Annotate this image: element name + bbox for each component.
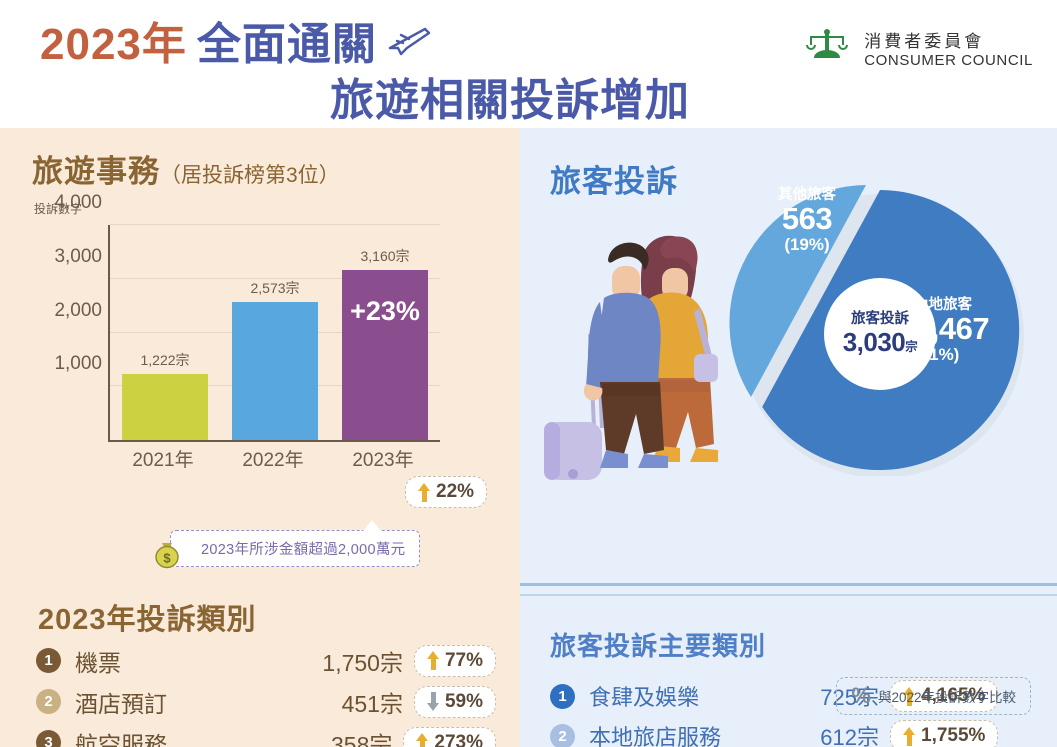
category-change-value: 273% <box>434 732 483 747</box>
donut-chart: 旅客投訴 3,030宗 其他旅客 563 (19%) 內地旅客 2,467 (8… <box>696 146 1036 476</box>
category-name: 機票 <box>75 644 278 678</box>
left-panel: 旅遊事務（居投訴榜第3位） 投訴數字 4,000 3,000 2,000 1,0… <box>0 128 520 747</box>
title-line-1: 2023年全面通關 <box>40 18 800 74</box>
rank-badge: 1 <box>36 648 61 673</box>
bar-2021: 1,222宗 <box>122 374 208 440</box>
y-tick-3000: 3,000 <box>54 246 102 268</box>
amount-callout: $ 2023年所涉金額超過2,000萬元 <box>152 530 420 567</box>
category-change-badge: 77% <box>414 645 496 677</box>
floor-line <box>520 583 1057 586</box>
title-block: 2023年全面通關 旅遊相關投訴增加 <box>40 18 800 128</box>
table-row: 3 航空服務 358宗 273% <box>36 722 496 747</box>
category-change-value: 1,755% <box>921 725 985 747</box>
category-change-badge: 273% <box>403 727 496 747</box>
overall-growth-badge: 22% <box>405 476 487 508</box>
rank-badge: 3 <box>36 730 61 747</box>
categories-heading: 2023年投訴類別 <box>38 596 257 638</box>
bar-annotation-2023: +23% <box>350 296 420 327</box>
category-value: 612宗 <box>769 720 879 747</box>
table-row: 2 本地旅店服務 612宗 1,755% <box>550 716 1050 747</box>
footnote: % 與2022年投訴數字比較 <box>836 677 1031 715</box>
bar-column-2021: 1,222宗 <box>122 225 208 440</box>
money-bag-icon: $ <box>150 536 184 575</box>
amount-callout-box: 2023年所涉金額超過2,000萬元 <box>170 530 420 567</box>
donut-center-value-wrap: 3,030宗 <box>843 328 918 357</box>
category-name: 酒店預訂 <box>75 685 278 719</box>
slice-label-other: 其他旅客 563 (19%) <box>778 188 836 254</box>
rank-badge: 1 <box>550 684 575 709</box>
svg-text:$: $ <box>163 551 171 566</box>
x-label-2022: 2022年 <box>230 445 316 472</box>
donut-center-label: 旅客投訴 <box>851 312 909 328</box>
travel-heading-main: 旅遊事務 <box>32 154 160 189</box>
y-tick-4000: 4,000 <box>54 192 102 214</box>
slice-other-value: 563 <box>778 203 836 236</box>
header: 2023年全面通關 旅遊相關投訴增加 <box>0 0 1057 128</box>
slice-main-value: 2,467 <box>914 313 989 346</box>
slice-main-percent: (81%) <box>914 346 989 364</box>
category-change-value: 77% <box>445 650 483 672</box>
bar-value-2023: 3,160宗 <box>360 246 409 266</box>
category-name: 本地旅店服務 <box>589 720 769 747</box>
title-highlight: 全面通關 <box>197 20 377 69</box>
title-line-2: 旅遊相關投訴增加 <box>40 74 800 128</box>
arrow-up-icon <box>427 651 440 670</box>
overall-growth-value: 22% <box>436 481 474 503</box>
chart-plot-area: 4,000 3,000 2,000 1,000 1,222宗 2,573宗 <box>108 225 440 442</box>
footnote-text: 與2022年投訴數字比較 <box>878 686 1016 706</box>
logo-english-name: CONSUMER COUNCIL <box>864 52 1033 69</box>
arrow-up-icon <box>418 483 431 502</box>
amount-callout-text: 2023年所涉金額超過2,000萬元 <box>201 542 405 558</box>
passenger-section-heading: 旅客投訴 <box>550 156 678 201</box>
category-change-badge: 59% <box>414 686 496 718</box>
floor-line-secondary <box>520 594 1057 596</box>
category-value: 451宗 <box>278 685 403 719</box>
travellers-with-luggage-illustration <box>530 216 745 484</box>
logo-text: 消費者委員會 CONSUMER COUNCIL <box>864 32 1033 69</box>
arrow-down-icon <box>427 692 440 711</box>
chart-x-labels: 2021年 2022年 2023年 <box>108 445 438 472</box>
travel-section-heading: 旅遊事務（居投訴榜第3位） <box>32 146 340 191</box>
rank-badge: 2 <box>550 724 575 747</box>
title-year: 2023年 <box>40 20 187 69</box>
complaint-categories-list: 1 機票 1,750宗 77% 2 酒店預訂 451宗 59% 3 航空 <box>36 640 496 747</box>
logo-chinese-name: 消費者委員會 <box>864 32 1033 52</box>
y-tick-2000: 2,000 <box>54 300 102 322</box>
infographic-page: 2023年全面通關 旅遊相關投訴增加 <box>0 0 1057 747</box>
bar-2023: 3,160宗 +23% <box>342 270 428 440</box>
travel-heading-sub: （居投訴榜第3位） <box>160 164 340 187</box>
chart-bars: 1,222宗 2,573宗 3,160宗 +23% <box>110 225 440 440</box>
passenger-categories-heading: 旅客投訴主要類別 <box>550 626 766 663</box>
category-name: 食肆及娛樂 <box>589 680 769 712</box>
bar-column-2023: 3,160宗 +23% <box>342 225 428 440</box>
category-name: 航空服務 <box>75 726 272 747</box>
bar-value-2022: 2,573宗 <box>250 278 299 298</box>
slice-label-mainland: 內地旅客 2,467 (81%) <box>914 298 989 364</box>
table-row: 1 機票 1,750宗 77% <box>36 640 496 681</box>
category-value: 358宗 <box>272 726 393 747</box>
table-row: 2 酒店預訂 451宗 59% <box>36 681 496 722</box>
arrow-up-icon <box>416 733 429 747</box>
bar-value-2021: 1,222宗 <box>140 350 189 370</box>
airplane-icon <box>385 20 431 74</box>
bar-column-2022: 2,573宗 <box>232 225 318 440</box>
slice-other-percent: (19%) <box>778 236 836 254</box>
x-label-2023: 2023年 <box>340 445 426 472</box>
consumer-council-logo: 消費者委員會 CONSUMER COUNCIL <box>800 26 1033 75</box>
percent-icon: % <box>851 685 871 707</box>
balance-scale-icon <box>800 26 854 75</box>
category-change-value: 59% <box>445 691 483 713</box>
arrow-up-icon <box>903 727 916 746</box>
rank-badge: 2 <box>36 689 61 714</box>
donut-center-value: 3,030 <box>843 327 906 357</box>
category-value: 1,750宗 <box>278 644 403 678</box>
y-tick-1000: 1,000 <box>54 353 102 375</box>
category-change-badge: 1,755% <box>890 720 998 747</box>
bar-2022: 2,573宗 <box>232 302 318 440</box>
right-panel: 旅客投訴 旅客投訴 3,030宗 其他旅客 563 ( <box>520 128 1057 747</box>
bar-chart: 投訴數字 4,000 3,000 2,000 1,000 1,222宗 <box>30 200 500 520</box>
x-label-2021: 2021年 <box>120 445 206 472</box>
